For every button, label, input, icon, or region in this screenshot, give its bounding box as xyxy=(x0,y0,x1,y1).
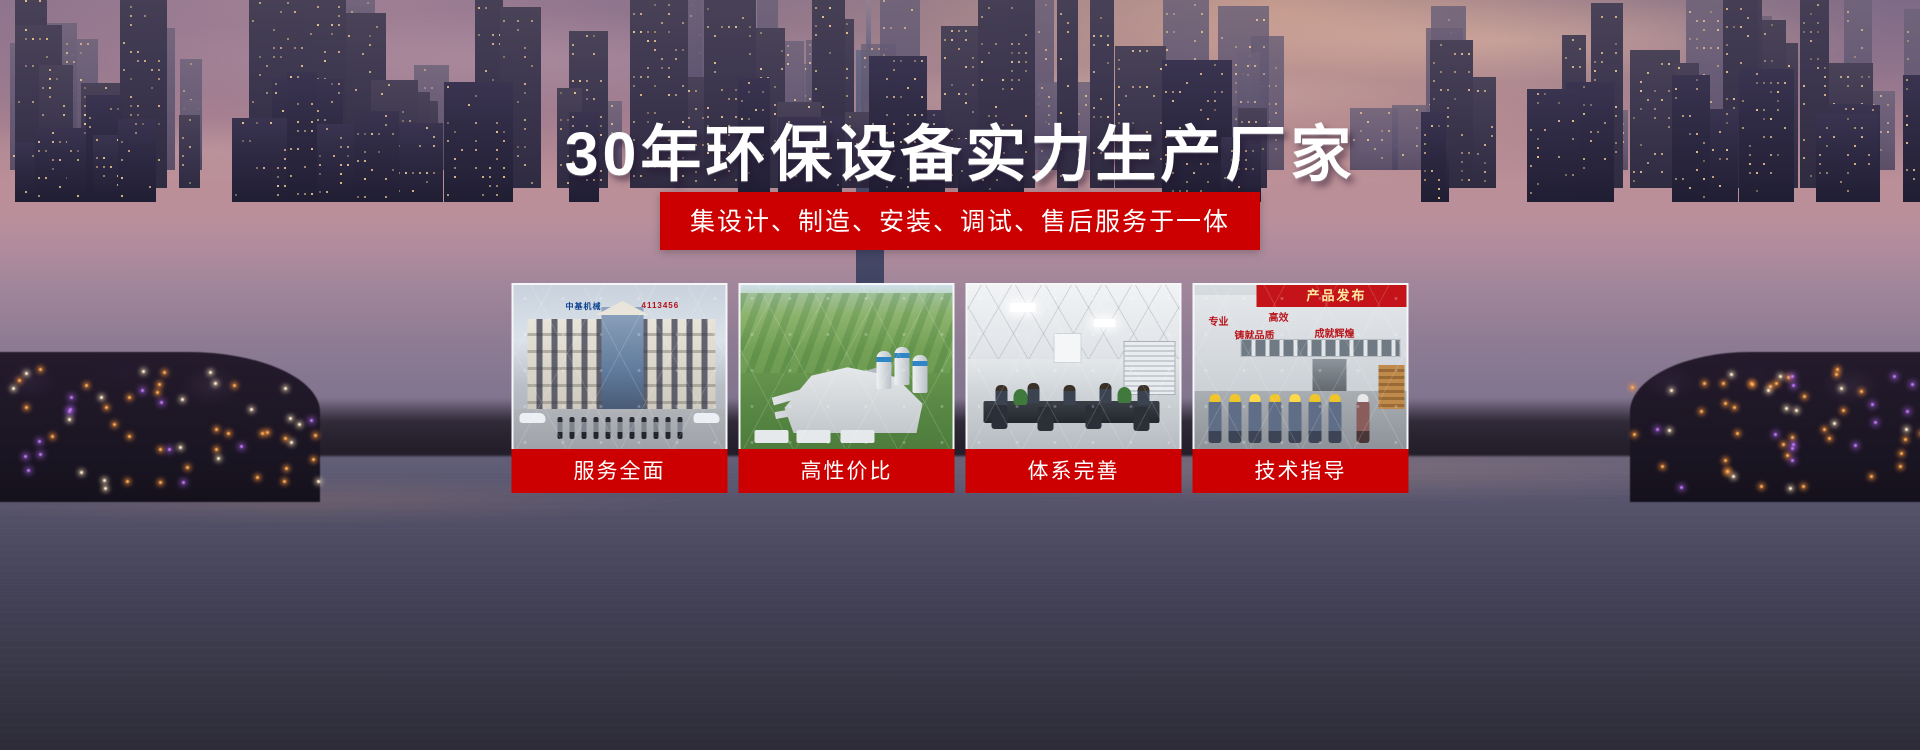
card-caption: 体系完善 xyxy=(966,449,1182,493)
banner-content: 30年环保设备实力生产厂家 集设计、制造、安装、调试、售后服务于一体 中基机械 … xyxy=(0,0,1920,750)
building-sign-text: 中基机械 xyxy=(566,301,602,312)
factory-slogan-2: 高效 xyxy=(1269,309,1289,324)
feature-card[interactable]: 体系完善 xyxy=(966,283,1182,493)
feature-card[interactable]: 高性价比 xyxy=(739,283,955,493)
feature-card-list: 中基机械 4113456 服务全面 xyxy=(512,283,1409,493)
card-caption: 服务全面 xyxy=(512,449,728,493)
plant-aerial-illustration xyxy=(741,285,953,449)
factory-banner: 产品发布 xyxy=(1257,283,1409,307)
factory-workers-illustration: 产品发布 专业 高效 铸就品质 成就辉煌 xyxy=(1195,285,1407,449)
office-interior-illustration xyxy=(968,285,1180,449)
hero-banner: 30年环保设备实力生产厂家 集设计、制造、安装、调试、售后服务于一体 中基机械 … xyxy=(0,0,1920,750)
card-photo: 产品发布 专业 高效 铸就品质 成就辉煌 xyxy=(1193,283,1409,449)
page-title: 30年环保设备实力生产厂家 xyxy=(0,104,1920,193)
feature-card[interactable]: 中基机械 4113456 服务全面 xyxy=(512,283,728,493)
factory-slogan-4: 成就辉煌 xyxy=(1315,325,1355,340)
office-building-illustration: 中基机械 4113456 xyxy=(514,285,726,449)
card-caption: 技术指导 xyxy=(1193,449,1409,493)
feature-card[interactable]: 产品发布 专业 高效 铸就品质 成就辉煌 xyxy=(1193,283,1409,493)
building-phone-text: 4113456 xyxy=(642,301,680,310)
factory-slogan-1: 专业 xyxy=(1209,313,1229,328)
card-photo: 中基机械 4113456 xyxy=(512,283,728,449)
card-caption: 高性价比 xyxy=(739,449,955,493)
card-photo xyxy=(966,283,1182,449)
factory-banner-text: 产品发布 xyxy=(1257,283,1409,307)
subtitle-badge: 集设计、制造、安装、调试、售后服务于一体 xyxy=(660,192,1260,250)
card-photo xyxy=(739,283,955,449)
